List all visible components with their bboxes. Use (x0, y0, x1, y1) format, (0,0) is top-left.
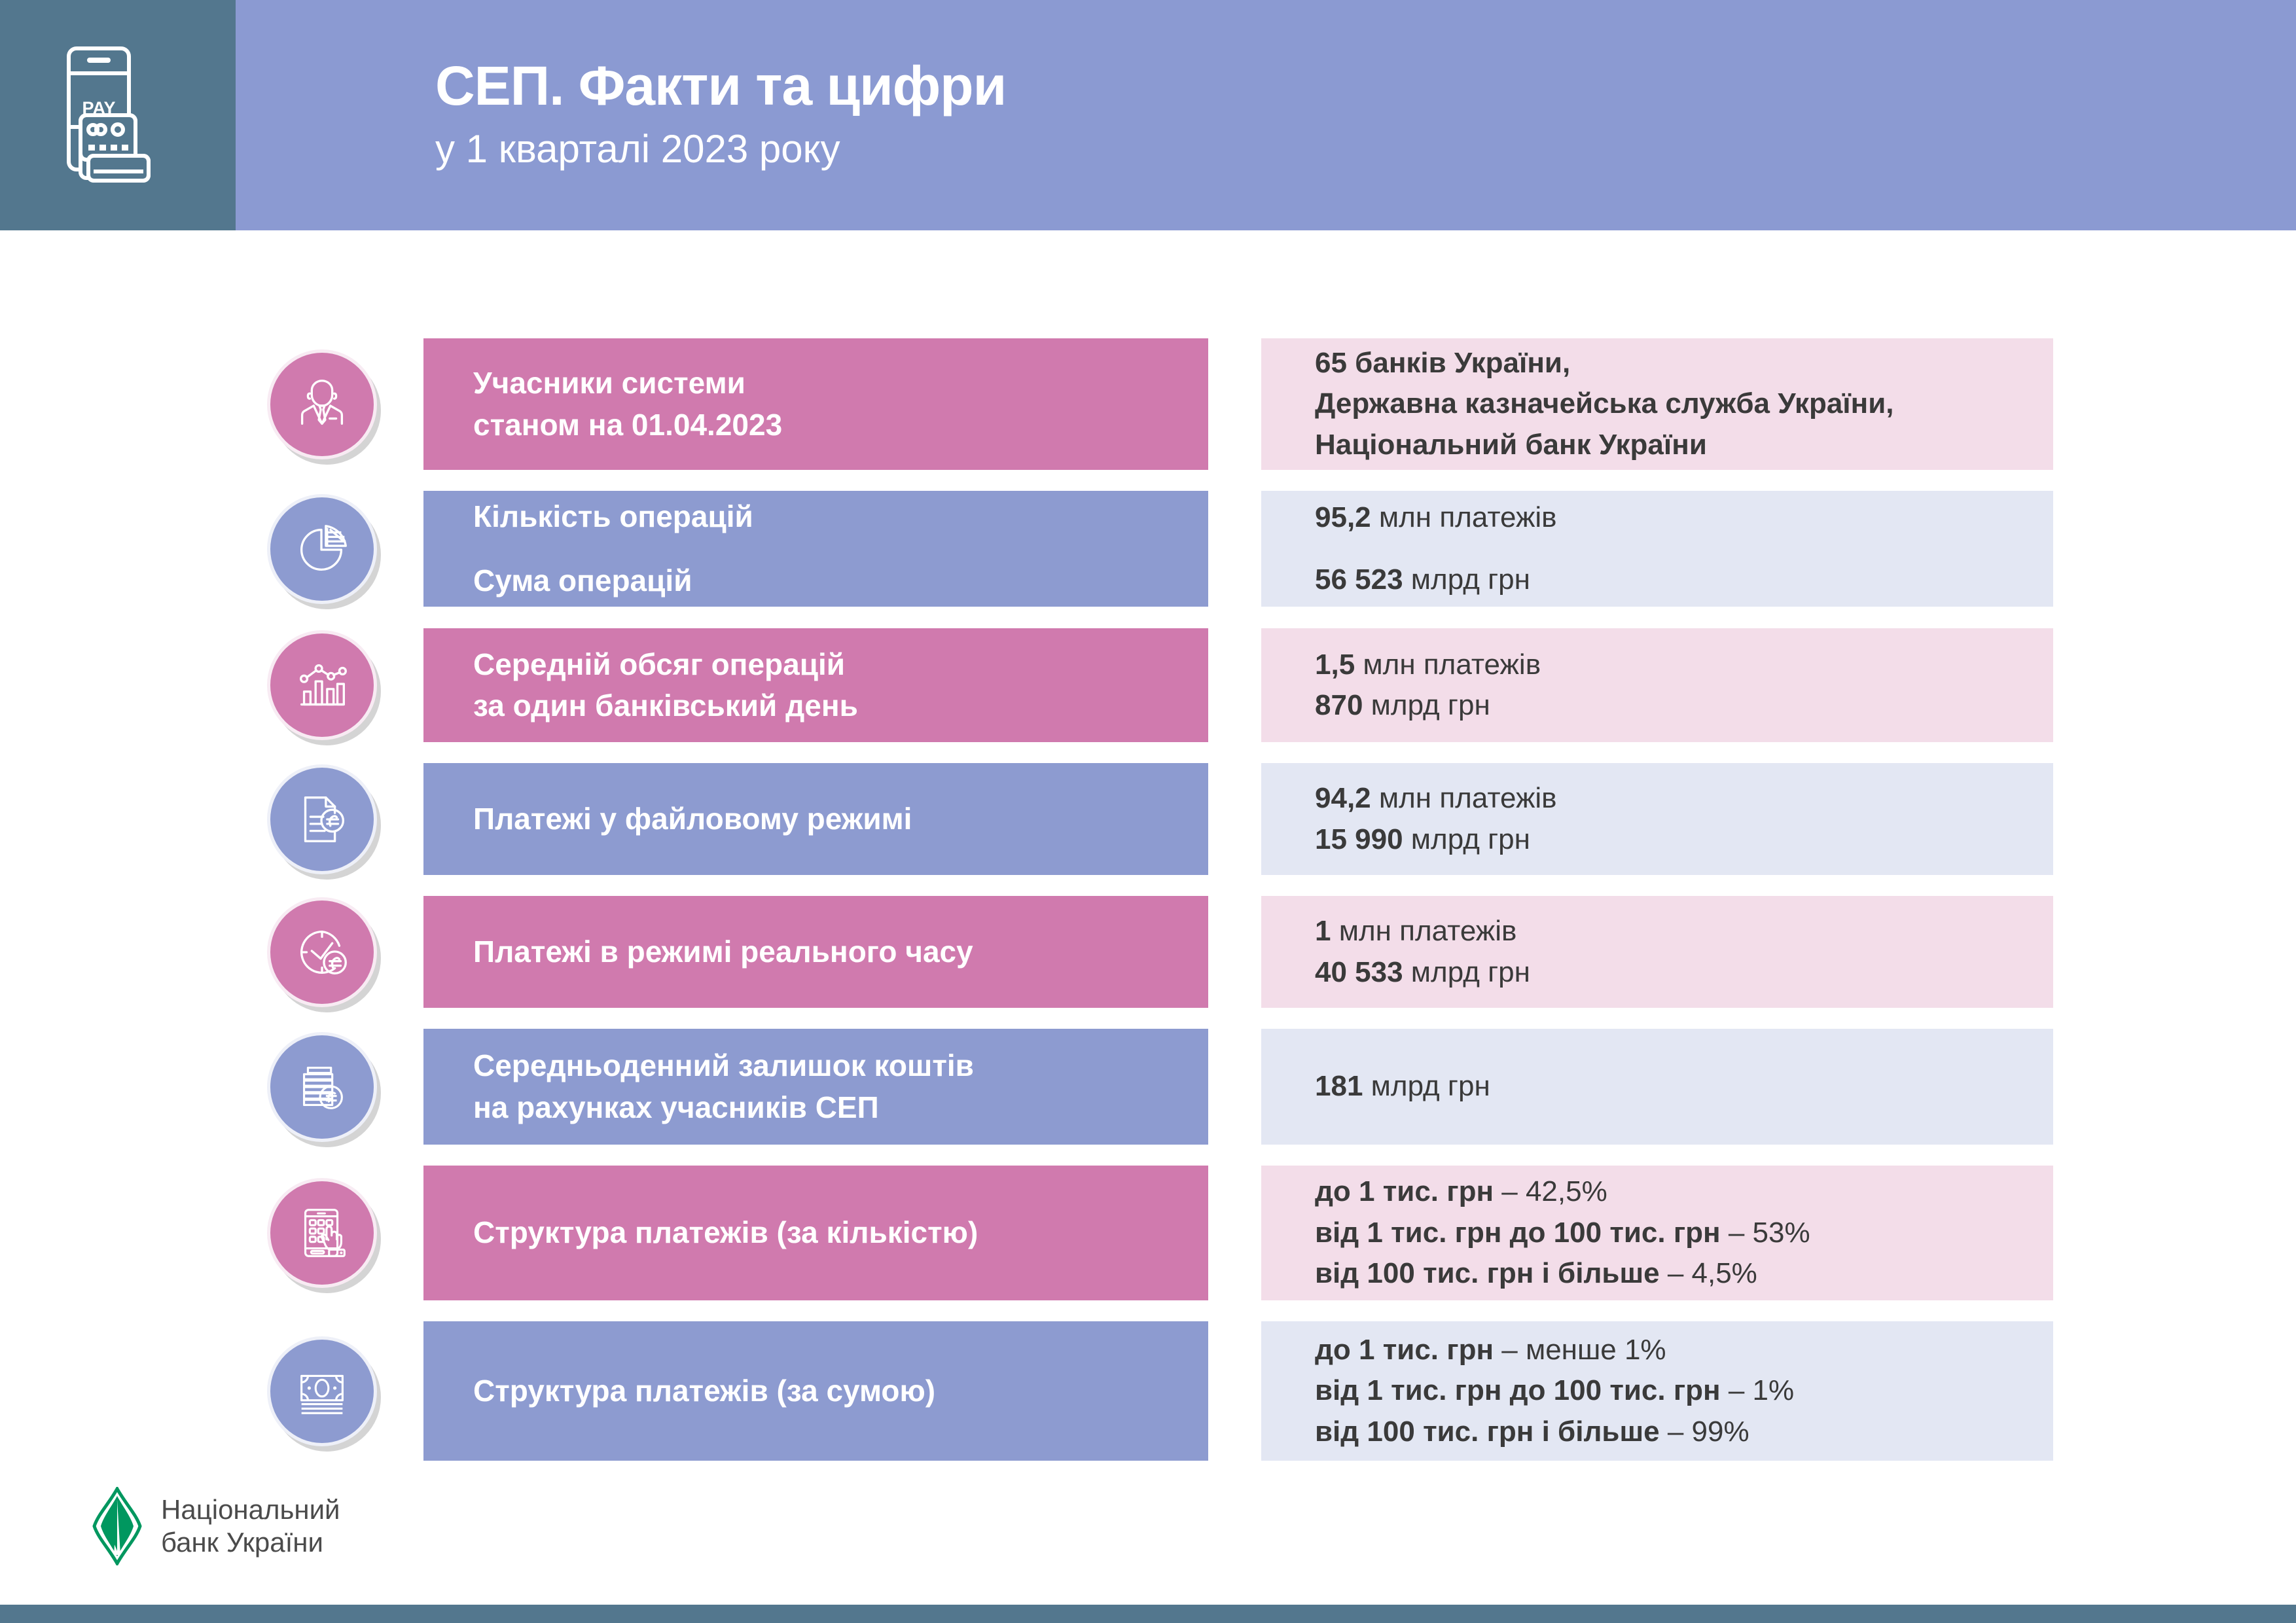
bar-chart-line-icon (267, 630, 377, 740)
value-unit: млрд грн (1403, 823, 1530, 855)
businessman-icon (267, 349, 377, 459)
stats-row: Учасники системистаном на 01.04.202365 б… (0, 338, 2296, 470)
row-value-line: 56 523 млрд грн (1315, 560, 2053, 600)
row-value-bar: до 1 тис. грн – 42,5%від 1 тис. грн до 1… (1261, 1166, 2053, 1300)
stats-row: Середній обсяг операційза один банківськ… (0, 628, 2296, 742)
value-number: 40 533 (1315, 956, 1403, 988)
value-unit: млрд грн (1363, 689, 1490, 721)
row-value-bar: 95,2 млн платежів56 523 млрд грн (1261, 491, 2053, 607)
pay-phone-card-icon: PAY (56, 43, 180, 187)
value-unit: млн платежів (1371, 782, 1557, 814)
value-unit: млн платежів (1355, 649, 1541, 681)
row-icon-cell (257, 491, 387, 607)
page-subtitle: у 1 кварталі 2023 року (435, 124, 2296, 173)
row-value-line: від 1 тис. грн до 100 тис. грн – 53% (1315, 1213, 2053, 1253)
value-unit: – 4,5% (1660, 1257, 1757, 1289)
value-number: 94,2 (1315, 782, 1371, 814)
row-label-bar: Учасники системистаном на 01.04.2023 (423, 338, 1208, 470)
row-label-line: на рахунках учасників СЕП (473, 1087, 1208, 1128)
value-number: 1 (1315, 915, 1331, 947)
row-value-bar: 65 банків України,Державна казначейська … (1261, 338, 2053, 470)
value-unit: млрд грн (1363, 1070, 1490, 1102)
row-icon-cell (257, 338, 387, 470)
banknote-icon (267, 1336, 377, 1446)
row-value-line: 15 990 млрд грн (1315, 819, 2053, 860)
nbu-logo-text: Національний банк України (161, 1493, 340, 1558)
stats-row: Платежі в режимі реального часу1 млн пла… (0, 896, 2296, 1008)
coin-stack-hryvnia-icon (267, 1032, 377, 1142)
value-number: до 1 тис. грн (1315, 1334, 1494, 1366)
row-value-line: 65 банків України, (1315, 343, 2053, 383)
row-value-line: від 1 тис. грн до 100 тис. грн – 1% (1315, 1370, 2053, 1411)
clock-hryvnia-icon (267, 897, 377, 1007)
row-value-bar: 1,5 млн платежів870 млрд грн (1261, 628, 2053, 742)
value-number: 181 (1315, 1070, 1363, 1102)
page-title: СЕП. Факти та цифри (435, 57, 2296, 115)
row-label-bar: Платежі у файловому режимі (423, 763, 1208, 875)
value-unit: – 42,5% (1494, 1175, 1607, 1207)
infographic-page: PAY СЕП. Факти та цифри (0, 0, 2296, 1623)
row-icon-cell (257, 896, 387, 1008)
row-value-line: 870 млрд грн (1315, 685, 2053, 726)
nbu-logo-icon (92, 1487, 143, 1565)
header: PAY СЕП. Факти та цифри (0, 0, 2296, 230)
row-label-line: Середньоденний залишок коштів (473, 1045, 1208, 1086)
row-value-bar: 1 млн платежів40 533 млрд грн (1261, 896, 2053, 1008)
row-label-line: Середній обсяг операцій (473, 644, 1208, 685)
value-unit: млн платежів (1371, 501, 1557, 533)
pie-chart-icon (267, 494, 377, 604)
value-number: від 1 тис. грн до 100 тис. грн (1315, 1374, 1721, 1406)
row-label-bar: Середній обсяг операційза один банківськ… (423, 628, 1208, 742)
row-label-line: станом на 01.04.2023 (473, 404, 1208, 446)
value-unit: млн платежів (1331, 915, 1516, 947)
row-label-line: Кількість операцій (473, 496, 1208, 537)
row-label-bar: Структура платежів (за кількістю) (423, 1166, 1208, 1300)
stats-row: Структура платежів (за кількістю)до 1 ти… (0, 1166, 2296, 1300)
row-label-bar: Кількість операційСума операцій (423, 491, 1208, 607)
row-value-line: від 100 тис. грн і більше – 99% (1315, 1412, 2053, 1452)
row-value-line: 1 млн платежів (1315, 911, 2053, 952)
value-unit: – 1% (1721, 1374, 1795, 1406)
stats-row: Структура платежів (за сумою)до 1 тис. г… (0, 1321, 2296, 1461)
header-text-bar: СЕП. Факти та цифри у 1 кварталі 2023 ро… (236, 0, 2296, 230)
stats-row: Середньоденний залишок коштівна рахунках… (0, 1029, 2296, 1145)
footer-strip (0, 1605, 2296, 1623)
value-number: до 1 тис. грн (1315, 1175, 1494, 1207)
row-value-line: 95,2 млн платежів (1315, 497, 2053, 538)
row-label-line: Платежі в режимі реального часу (473, 931, 1208, 972)
row-icon-cell (257, 763, 387, 875)
row-label-line: за один банківський день (473, 685, 1208, 726)
nbu-logo: Національний банк України (92, 1487, 340, 1565)
tablet-tap-icon (267, 1178, 377, 1288)
row-value-line: 181 млрд грн (1315, 1066, 2053, 1107)
row-value-line: від 100 тис. грн і більше – 4,5% (1315, 1253, 2053, 1294)
row-icon-cell (257, 1321, 387, 1461)
value-number: Державна казначейська служба України, (1315, 387, 1894, 419)
value-unit: млрд грн (1403, 956, 1530, 988)
row-value-bar: 181 млрд грн (1261, 1029, 2053, 1145)
row-icon-cell (257, 1029, 387, 1145)
nbu-logo-line2: банк України (161, 1526, 340, 1559)
value-number: 95,2 (1315, 501, 1371, 533)
value-unit: – 99% (1660, 1416, 1749, 1448)
row-value-line: 1,5 млн платежів (1315, 645, 2053, 685)
row-label-bar: Платежі в режимі реального часу (423, 896, 1208, 1008)
value-number: Національний банк України (1315, 429, 1707, 461)
row-label-line: Сума операцій (473, 560, 1208, 601)
stats-row: Платежі у файловому режимі94,2 млн плате… (0, 763, 2296, 875)
value-number: 56 523 (1315, 563, 1403, 596)
row-label-line: Учасники системи (473, 363, 1208, 404)
row-value-line: Державна казначейська служба України, (1315, 383, 2053, 424)
row-label-bar: Структура платежів (за сумою) (423, 1321, 1208, 1461)
row-value-line: до 1 тис. грн – 42,5% (1315, 1171, 2053, 1212)
nbu-logo-line1: Національний (161, 1493, 340, 1526)
row-icon-cell (257, 1166, 387, 1300)
row-value-bar: до 1 тис. грн – менше 1%від 1 тис. грн д… (1261, 1321, 2053, 1461)
row-value-bar: 94,2 млн платежів15 990 млрд грн (1261, 763, 2053, 875)
row-label-line: Структура платежів (за сумою) (473, 1370, 1208, 1412)
stats-row: Кількість операційСума операцій95,2 млн … (0, 491, 2296, 607)
row-label-line: Структура платежів (за кількістю) (473, 1212, 1208, 1253)
value-unit: млрд грн (1403, 563, 1530, 596)
row-icon-cell (257, 628, 387, 742)
value-number: від 1 тис. грн до 100 тис. грн (1315, 1217, 1721, 1249)
value-number: 870 (1315, 689, 1363, 721)
value-number: 1,5 (1315, 649, 1355, 681)
value-number: від 100 тис. грн і більше (1315, 1257, 1660, 1289)
value-unit: – менше 1% (1494, 1334, 1666, 1366)
row-label-line: Платежі у файловому режимі (473, 798, 1208, 840)
document-hryvnia-icon (267, 764, 377, 874)
row-value-line: 40 533 млрд грн (1315, 952, 2053, 993)
row-value-line: Національний банк України (1315, 425, 2053, 465)
value-number: від 100 тис. грн і більше (1315, 1416, 1660, 1448)
row-value-line: до 1 тис. грн – менше 1% (1315, 1330, 2053, 1370)
row-label-bar: Середньоденний залишок коштівна рахунках… (423, 1029, 1208, 1145)
row-value-line: 94,2 млн платежів (1315, 778, 2053, 819)
value-number: 65 банків України, (1315, 347, 1570, 379)
value-unit: – 53% (1721, 1217, 1810, 1249)
header-logo-panel: PAY (0, 0, 236, 230)
value-number: 15 990 (1315, 823, 1403, 855)
